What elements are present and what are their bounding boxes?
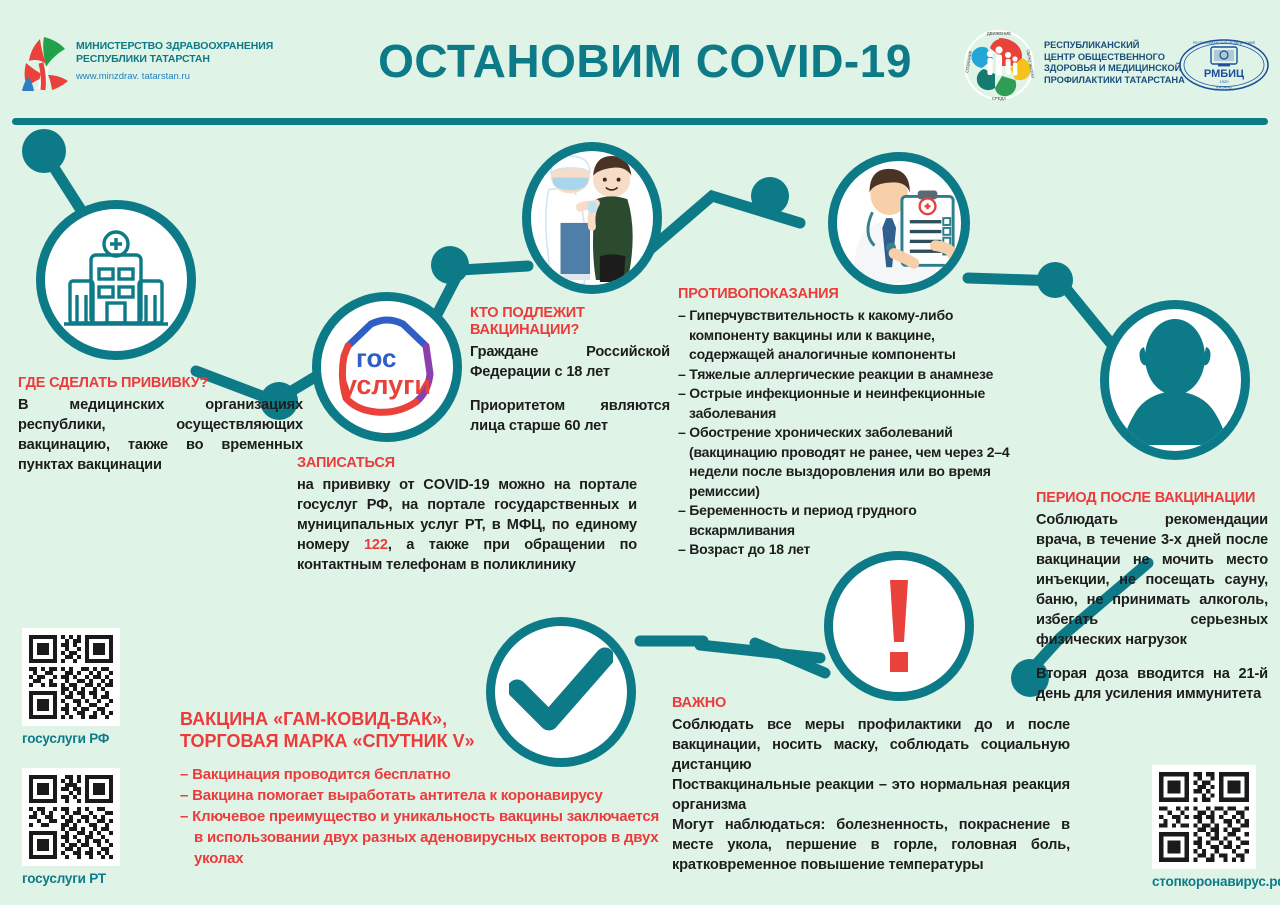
where-body: В медицинских организациях республики, о… bbox=[18, 395, 303, 475]
who-body-2: Приоритетом являются лица старше 60 лет bbox=[470, 396, 670, 436]
gosuslugi-top-text: гос bbox=[356, 343, 397, 373]
important-body-3: Могут наблюдаться: болезненность, покрас… bbox=[672, 815, 1070, 875]
block-where-to-vaccinate: ГДЕ СДЕЛАТЬ ПРИВИВКУ? В медицинских орга… bbox=[18, 375, 303, 475]
connector-dot-top-left bbox=[22, 129, 66, 173]
list-item: – Вакцина помогает выработать антитела к… bbox=[180, 785, 660, 806]
ministry-line-2: РЕСПУБЛИКИ ТАТАРСТАН bbox=[76, 53, 273, 66]
center-line-3: ЗДОРОВЬЯ И МЕДИЦИНСКОЙ bbox=[1044, 63, 1185, 75]
vaccine-title-line-2: ТОРГОВАЯ МАРКА «СПУТНИК V» bbox=[180, 731, 475, 751]
block-contraindications: ПРОТИВОПОКАЗАНИЯ – Гиперчувствительность… bbox=[678, 286, 1020, 560]
ministry-line-1: МИНИСТЕРСТВО ЗДРАВООХРАНЕНИЯ bbox=[76, 40, 273, 53]
vaccine-title-line-1: ВАКЦИНА «ГАМ-КОВИД-ВАК», bbox=[180, 709, 447, 729]
hospital-icon bbox=[62, 229, 170, 331]
contraindications-list: – Гиперчувствительность к какому-либо ко… bbox=[678, 306, 1020, 560]
who-body: Граждане Российской Федерации с 18 лет bbox=[470, 342, 670, 382]
node-person[interactable] bbox=[1100, 300, 1250, 460]
rmbic-city: КАЗАНЬ bbox=[1216, 85, 1232, 90]
qr-caption: госуслуги РФ bbox=[22, 731, 120, 746]
poster-header: МИНИСТЕРСТВО ЗДРАВООХРАНЕНИЯ РЕСПУБЛИКИ … bbox=[0, 0, 1280, 118]
qr-code-image[interactable] bbox=[1152, 765, 1256, 869]
list-item: – Гиперчувствительность к какому-либо ко… bbox=[678, 306, 1020, 365]
signup-title: ЗАПИСАТЬСЯ bbox=[297, 455, 637, 472]
nurse-vaccinating-patient-icon bbox=[531, 149, 653, 287]
important-body-1: Соблюдать все меры профилактики до и пос… bbox=[672, 715, 1070, 775]
signup-phone: 122 bbox=[364, 537, 388, 553]
rmbic-year: 1920 bbox=[1220, 79, 1230, 84]
after-body: Соблюдать рекомендации врача, в течение … bbox=[1036, 510, 1268, 650]
list-item: – Беременность и период грудного вскармл… bbox=[678, 501, 1020, 540]
list-item: – Ключевое преимущество и уникальность в… bbox=[180, 806, 660, 869]
ministry-website-url: www.minzdrav. tatarstan.ru bbox=[76, 71, 273, 82]
svg-text:ДВИЖЕНИЕ: ДВИЖЕНИЕ bbox=[987, 31, 1011, 36]
list-item: – Обострение хронических заболеваний (ва… bbox=[678, 423, 1020, 501]
important-body-2: Поствакцинальные реакции – это нормальна… bbox=[672, 775, 1070, 815]
node-warning[interactable] bbox=[824, 551, 974, 701]
after-body-2: Вторая доза вводится на 21-й день для ус… bbox=[1036, 664, 1268, 704]
signup-body: на прививку от COVID-19 можно на портале… bbox=[297, 475, 637, 575]
block-who-is-eligible: КТО ПОДЛЕЖИТ ВАКЦИНАЦИИ? Граждане Россий… bbox=[470, 305, 670, 436]
rmbic-logo-icon: РМБИЦ 1920 КАЗАНЬ РЕСПУБЛИКАНСКИЙ МЕДИЦИ… bbox=[1178, 38, 1270, 92]
page-title: ОСТАНОВИМ COVID-19 bbox=[340, 32, 950, 90]
qr-stopcoronavirus[interactable]: стопкоронавирус.рф bbox=[1152, 765, 1280, 889]
block-signup: ЗАПИСАТЬСЯ на прививку от COVID-19 можно… bbox=[297, 455, 637, 575]
connector-dot-gos-couple bbox=[431, 246, 469, 284]
block-after-vaccination: ПЕРИОД ПОСЛЕ ВАКЦИНАЦИИ Соблюдать рекоме… bbox=[1036, 490, 1268, 704]
list-item: – Острые инфекционные и неинфекционные з… bbox=[678, 384, 1020, 423]
center-line-1: РЕСПУБЛИКАНСКИЙ bbox=[1044, 40, 1185, 52]
vaccine-title: ВАКЦИНА «ГАМ-КОВИД-ВАК»,ТОРГОВАЯ МАРКА «… bbox=[180, 708, 660, 752]
exclamation-mark-icon bbox=[877, 576, 921, 676]
public-health-center-text: РЕСПУБЛИКАНСКИЙ ЦЕНТР ОБЩЕСТВЕННОГО ЗДОР… bbox=[1044, 40, 1185, 86]
contraindications-title: ПРОТИВОПОКАЗАНИЯ bbox=[678, 286, 1020, 303]
connector-dot-doctor-right bbox=[1037, 262, 1073, 298]
qr-pattern bbox=[29, 635, 113, 719]
ministry-logo-text: МИНИСТЕРСТВО ЗДРАВООХРАНЕНИЯ РЕСПУБЛИКИ … bbox=[76, 40, 273, 82]
vaccine-list: – Вакцинация проводится бесплатно – Вакц… bbox=[180, 764, 660, 869]
qr-gosuslugi-rt[interactable]: госуслуги РТ bbox=[22, 768, 120, 886]
who-title: КТО ПОДЛЕЖИТ ВАКЦИНАЦИИ? bbox=[470, 305, 670, 339]
list-item: – Вакцинация проводится бесплатно bbox=[180, 764, 660, 785]
node-hospital[interactable] bbox=[36, 200, 196, 360]
person-silhouette-icon bbox=[1116, 315, 1234, 445]
gosuslugi-bottom-text: услуги bbox=[342, 370, 431, 400]
qr-code-image[interactable] bbox=[22, 768, 120, 866]
doctor-with-clipboard-icon bbox=[837, 162, 961, 284]
qr-gosuslugi-rf[interactable]: госуслуги РФ bbox=[22, 628, 120, 746]
svg-text:РЕСПУБЛИКАНСКИЙ МЕДИЦИНСКИЙ: РЕСПУБЛИКАНСКИЙ МЕДИЦИНСКИЙ bbox=[1193, 41, 1255, 45]
svg-text:СРЕДА: СРЕДА bbox=[992, 96, 1006, 101]
block-important: ВАЖНО Соблюдать все меры профилактики до… bbox=[672, 695, 1070, 875]
center-line-2: ЦЕНТР ОБЩЕСТВЕННОГО bbox=[1044, 52, 1185, 64]
qr-pattern bbox=[29, 775, 113, 859]
block-vaccine: ВАКЦИНА «ГАМ-КОВИД-ВАК»,ТОРГОВАЯ МАРКА «… bbox=[180, 708, 660, 869]
connector-dot-couple-doctor bbox=[751, 177, 789, 215]
node-gosuslugi[interactable]: гос услуги bbox=[312, 292, 462, 442]
list-item: – Тяжелые аллергические реакции в анамне… bbox=[678, 365, 1020, 385]
gosuslugi-logo-icon: гос услуги bbox=[326, 312, 448, 422]
node-doctor[interactable] bbox=[828, 152, 970, 294]
qr-caption: госуслуги РТ bbox=[22, 871, 120, 886]
qr-pattern bbox=[1159, 772, 1249, 862]
after-title: ПЕРИОД ПОСЛЕ ВАКЦИНАЦИИ bbox=[1036, 490, 1268, 507]
list-item: – Возраст до 18 лет bbox=[678, 540, 1020, 560]
public-health-center-emblem-icon: ДВИЖЕНИЕ СОЗНАНИЕ ОБРАЗ ЖИЗНИ СРЕДА bbox=[962, 28, 1036, 102]
important-title: ВАЖНО bbox=[672, 695, 1070, 712]
center-line-4: ПРОФИЛАКТИКИ ТАТАРСТАНА bbox=[1044, 75, 1185, 87]
header-divider bbox=[12, 118, 1268, 125]
where-title: ГДЕ СДЕЛАТЬ ПРИВИВКУ? bbox=[18, 375, 303, 392]
qr-code-image[interactable] bbox=[22, 628, 120, 726]
node-vaccination-scene[interactable] bbox=[522, 142, 662, 294]
ministry-of-health-logo-icon bbox=[18, 33, 70, 91]
qr-caption: стопкоронавирус.рф bbox=[1152, 874, 1280, 889]
svg-text:СОЗНАНИЕ: СОЗНАНИЕ bbox=[964, 50, 973, 73]
covid-infographic-poster: МИНИСТЕРСТВО ЗДРАВООХРАНЕНИЯ РЕСПУБЛИКИ … bbox=[0, 0, 1280, 905]
